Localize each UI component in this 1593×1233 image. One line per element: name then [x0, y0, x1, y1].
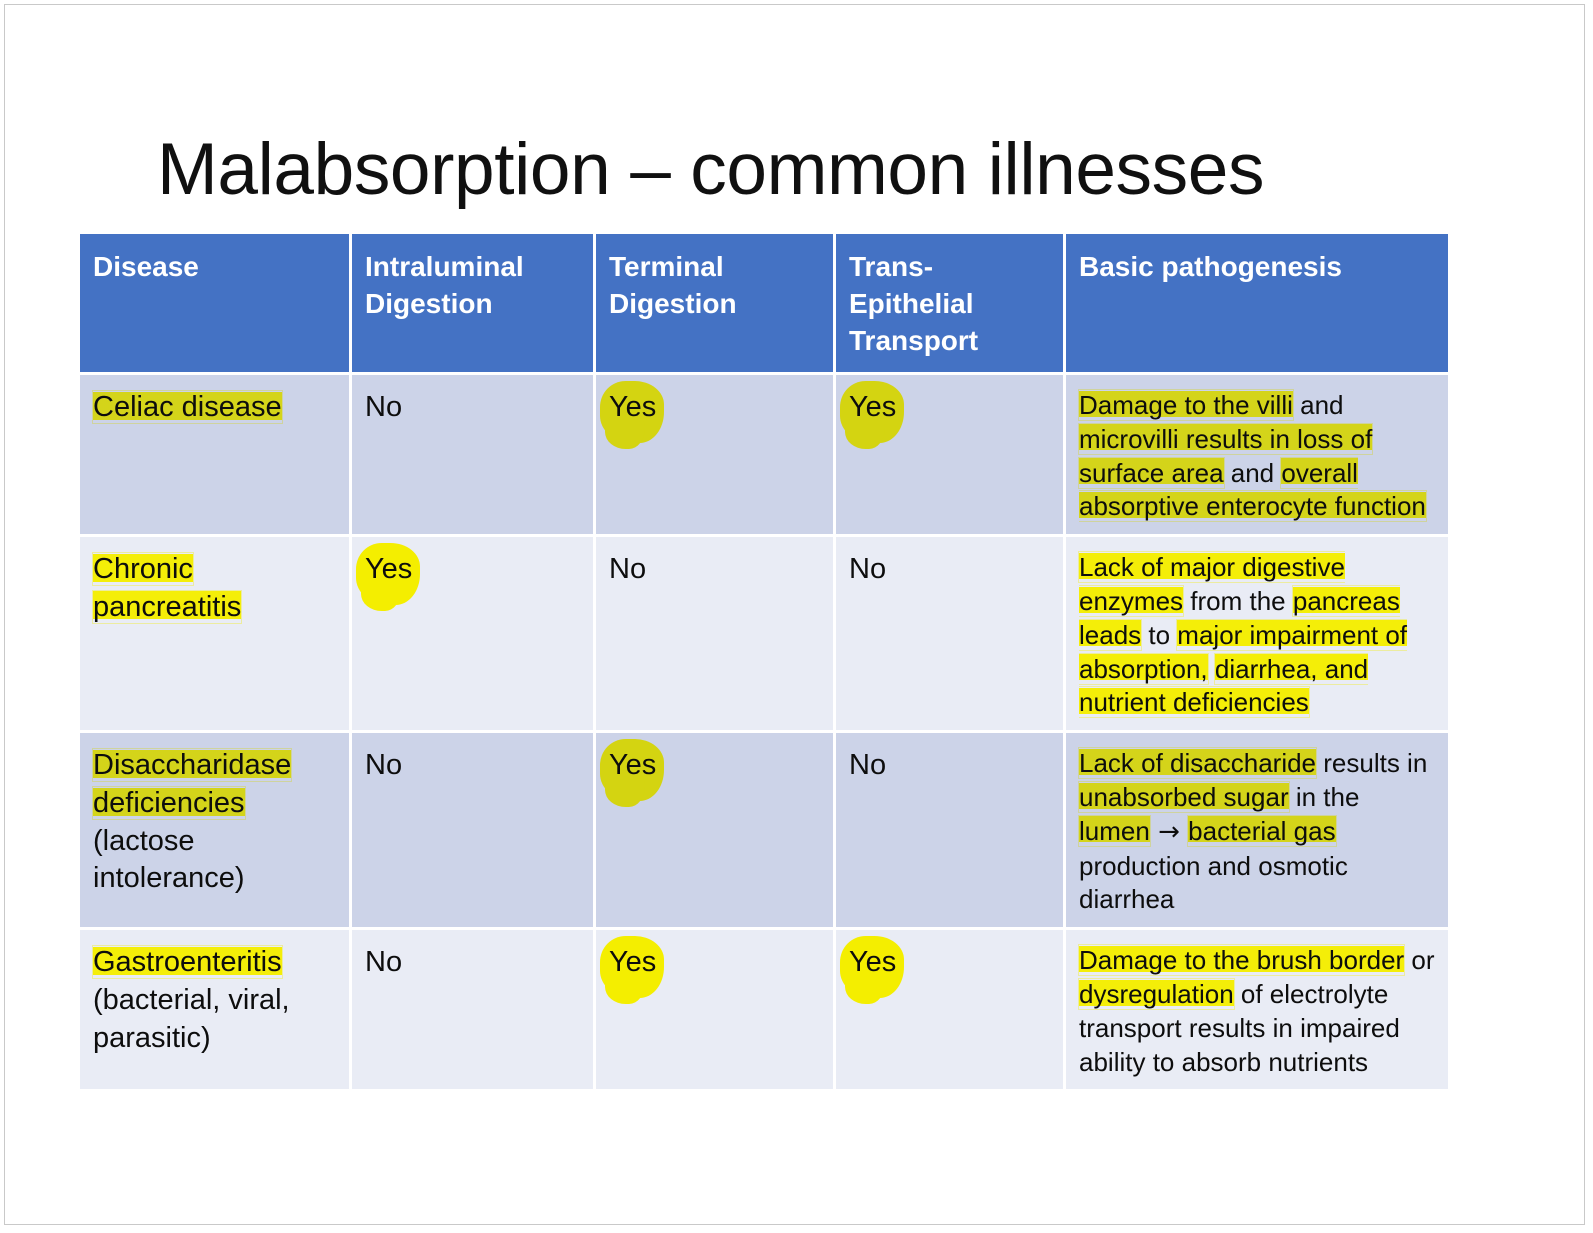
cell-value: No [849, 553, 886, 585]
cell-pathogenesis: Lack of disaccharide results in unabsorb… [1066, 733, 1448, 930]
cell-value: No [609, 553, 646, 585]
table-row: Gastroenteritis (bacterial, viral, paras… [80, 930, 1448, 1092]
highlight-mark: Damage to the brush border [1079, 945, 1404, 975]
cell-value: Yes [609, 391, 656, 423]
highlight-mark: Celiac disease [93, 391, 282, 423]
cell-pathogenesis: Damage to the villi and microvilli resul… [1066, 375, 1448, 537]
highlight-mark: surface area [1079, 458, 1224, 488]
cell-value: No [365, 749, 402, 781]
column-header-terminal-digestion: Terminal Digestion [596, 234, 836, 375]
highlight-mark: Chronic [93, 553, 193, 585]
highlight-blob-group: Yes [849, 944, 896, 982]
column-header-basic-pathogenesis: Basic pathogenesis [1066, 234, 1448, 375]
cell-transepithelial: Yes [836, 375, 1066, 537]
plain-text: in the [1289, 782, 1360, 812]
malabsorption-table-container: Disease Intraluminal Digestion Terminal … [80, 234, 1448, 1092]
highlight-blob-group: Yes [365, 551, 412, 589]
slide-canvas: Malabsorption – common illnesses Disease… [4, 4, 1585, 1225]
cell-pathogenesis: Lack of major digestive enzymes from the… [1066, 537, 1448, 733]
table-row: Disaccharidase deficiencies (lactose int… [80, 733, 1448, 930]
cell-disease: Chronic pancreatitis [80, 537, 352, 733]
cell-value: No [849, 749, 886, 781]
highlight-blob-group: Yes [609, 944, 656, 982]
table-row: Chronic pancreatitis Yes No [80, 537, 1448, 733]
cell-value: No [365, 391, 402, 423]
cell-value: Yes [849, 391, 896, 423]
cell-terminal: Yes [596, 930, 836, 1092]
cell-intraluminal: Yes [352, 537, 596, 733]
plain-text [1208, 654, 1215, 684]
cell-value: No [365, 946, 402, 978]
cell-value: Yes [849, 946, 896, 978]
plain-text: and [1224, 458, 1282, 488]
plain-text: (lactose intolerance) [93, 825, 245, 895]
table-row: Celiac disease No Yes [80, 375, 1448, 537]
cell-terminal: Yes [596, 375, 836, 537]
highlight-blob-group: Yes [609, 389, 656, 427]
highlight-mark: Gastroenteritis [93, 946, 282, 978]
cell-disease: Celiac disease [80, 375, 352, 537]
cell-disease: Gastroenteritis (bacterial, viral, paras… [80, 930, 352, 1092]
cell-disease: Disaccharidase deficiencies (lactose int… [80, 733, 352, 930]
column-header-intraluminal-digestion: Intraluminal Digestion [352, 234, 596, 375]
plain-text: (bacterial, viral, parasitic) [93, 984, 290, 1054]
cell-transepithelial: Yes [836, 930, 1066, 1092]
table-header-row: Disease Intraluminal Digestion Terminal … [80, 234, 1448, 375]
highlight-mark: deficiencies [93, 787, 245, 819]
highlight-mark: pancreatitis [93, 591, 241, 623]
right-arrow-icon: → [1150, 817, 1188, 847]
highlight-blob-group: Yes [849, 389, 896, 427]
highlight-mark: Damage to the villi [1079, 390, 1293, 420]
highlight-mark: Lack of disaccharide [1079, 748, 1316, 778]
cell-intraluminal: No [352, 375, 596, 537]
plain-text: results in [1316, 748, 1427, 778]
column-header-trans-epithelial-transport: Trans-Epithelial Transport [836, 234, 1066, 375]
cell-terminal: No [596, 537, 836, 733]
highlight-mark: Disaccharidase [93, 749, 291, 781]
cell-value: Yes [609, 749, 656, 781]
table-header: Disease Intraluminal Digestion Terminal … [80, 234, 1448, 375]
plain-text: production and osmotic diarrhea [1079, 851, 1348, 915]
page-title: Malabsorption – common illnesses [157, 133, 1264, 206]
highlight-mark: unabsorbed sugar [1079, 782, 1289, 812]
plain-text: from the [1183, 586, 1293, 616]
plain-text: and [1293, 390, 1344, 420]
table-body: Celiac disease No Yes [80, 375, 1448, 1092]
cell-intraluminal: No [352, 733, 596, 930]
plain-text: to [1141, 620, 1177, 650]
cell-value: Yes [365, 553, 412, 585]
highlight-mark: dysregulation [1079, 979, 1234, 1009]
highlight-blob-group: Yes [609, 747, 656, 785]
cell-value: Yes [609, 946, 656, 978]
cell-transepithelial: No [836, 537, 1066, 733]
cell-transepithelial: No [836, 733, 1066, 930]
column-header-disease: Disease [80, 234, 352, 375]
malabsorption-table: Disease Intraluminal Digestion Terminal … [80, 234, 1448, 1092]
cell-terminal: Yes [596, 733, 836, 930]
highlight-mark: microvilli results in loss of [1079, 424, 1372, 454]
cell-pathogenesis: Damage to the brush border or dysregulat… [1066, 930, 1448, 1092]
plain-text: or [1404, 945, 1434, 975]
highlight-mark: bacterial gas [1188, 816, 1335, 846]
highlight-mark: lumen [1079, 816, 1150, 846]
cell-intraluminal: No [352, 930, 596, 1092]
